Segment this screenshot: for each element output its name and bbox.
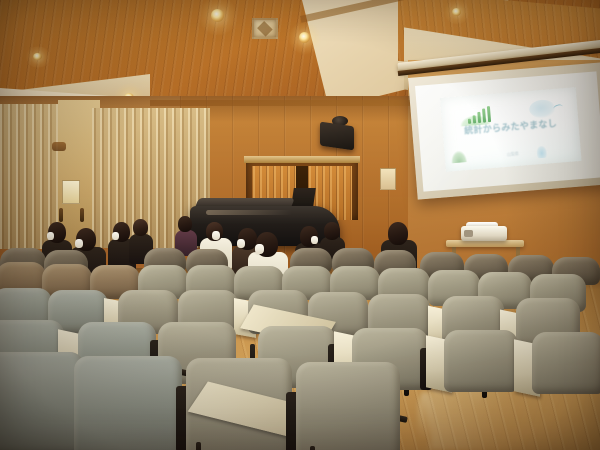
auditorium-seat[interactable] <box>0 352 84 450</box>
ceiling-vent-icon <box>252 18 278 39</box>
face-mask <box>255 244 264 254</box>
slide-subtitle: 山梨県 <box>507 151 519 158</box>
wall-plaque <box>52 142 66 151</box>
downlight-icon <box>452 8 461 16</box>
face-mask <box>212 231 220 240</box>
projector <box>461 226 507 241</box>
projection-screen-surface: 統計からみたやまなし 山梨県 <box>415 71 600 191</box>
face-mask <box>237 239 245 248</box>
wall-control-panel <box>380 168 396 190</box>
wall-speaker <box>320 122 354 151</box>
auditorium-seat[interactable] <box>532 332 600 394</box>
face-mask <box>47 232 54 240</box>
projector-table <box>446 240 524 247</box>
presentation-slide: 統計からみたやまなし 山梨県 <box>440 87 581 172</box>
wall-sign <box>62 180 80 204</box>
seat-backrest <box>0 352 84 450</box>
seat-support-leg <box>310 446 315 450</box>
person-head <box>388 222 408 245</box>
person-head <box>133 219 148 236</box>
slide-grass-graphic <box>450 150 467 163</box>
light-rim <box>211 9 224 22</box>
seat-backrest <box>532 332 600 394</box>
downlight-icon <box>33 53 42 60</box>
seat-support-leg <box>196 442 201 450</box>
light-rim <box>33 53 42 60</box>
slide-water-graphic <box>536 146 547 159</box>
person-head <box>178 216 192 232</box>
face-mask <box>311 236 318 244</box>
auditorium-seat[interactable] <box>74 356 182 450</box>
light-rim <box>299 32 310 43</box>
piano-highlight <box>206 210 292 215</box>
wall-hook-icon <box>59 208 63 222</box>
slide-bird-icon <box>552 103 564 113</box>
downlight-icon <box>299 32 310 43</box>
seat-backrest <box>444 330 518 392</box>
person-head <box>324 222 340 240</box>
auditorium-seat[interactable] <box>296 362 400 450</box>
stage-lintel <box>244 156 360 163</box>
light-rim <box>452 8 461 16</box>
auditorium-photo: 統計からみたやまなし 山梨県 <box>0 0 600 450</box>
face-mask <box>112 232 119 240</box>
seat-backrest <box>74 356 182 450</box>
floor-light-reflection <box>418 392 432 440</box>
wall-hook-icon <box>80 208 84 222</box>
seat-backrest <box>296 362 400 450</box>
auditorium-seat[interactable] <box>444 330 518 392</box>
face-mask <box>75 239 83 248</box>
downlight-icon <box>211 9 224 22</box>
